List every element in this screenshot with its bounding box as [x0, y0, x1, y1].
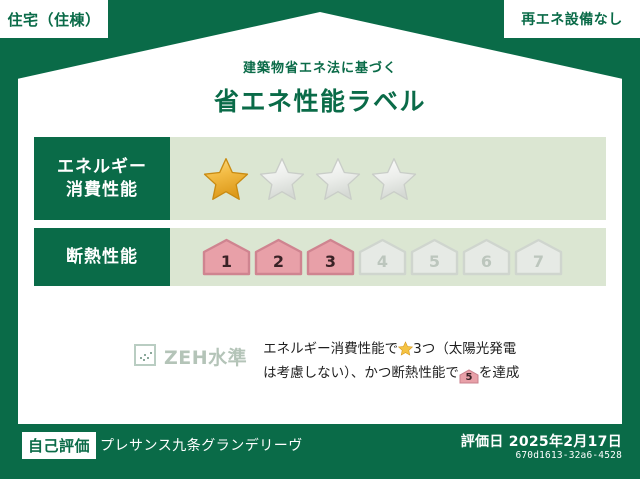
- zeh-description-block: ZEH水準 エネルギー消費性能で 3つ（太陽光発電 は考慮しない）、かつ断熱性能…: [134, 338, 519, 385]
- badge-self-evaluation: 自己評価: [22, 432, 96, 459]
- desc-part1: エネルギー消費性能で: [263, 341, 398, 357]
- row-insulation-performance-label: 断熱性能: [34, 228, 170, 286]
- insulation-scale: 1234567: [170, 238, 606, 276]
- row-energy-performance-label: エネルギー 消費性能: [34, 137, 170, 220]
- insulation-level-value: 4: [377, 252, 388, 271]
- star-empty-icon: [258, 156, 306, 202]
- desc-star-count: 3つ: [413, 341, 435, 357]
- insulation-level-3: 3: [306, 238, 355, 276]
- insulation-level-2: 2: [254, 238, 303, 276]
- desc-line2-part2: を達成: [479, 365, 520, 381]
- insulation-level-value: 7: [533, 252, 544, 271]
- zeh-criteria-description: エネルギー消費性能で 3つ（太陽光発電 は考慮しない）、かつ断熱性能で 5を達成: [263, 338, 519, 385]
- title-subtitle: 建築物省エネ法に基づく: [0, 57, 640, 76]
- star-filled-icon: [202, 156, 250, 202]
- title-block: 建築物省エネ法に基づく 省エネ性能ラベル: [0, 57, 640, 118]
- insulation-level-value: 6: [481, 252, 492, 271]
- evaluation-date: 評価日 2025年2月17日: [461, 431, 622, 451]
- inline-insulation-badge: 5: [459, 369, 479, 384]
- badge-building-type: 住宅（住棟）: [0, 0, 108, 38]
- insulation-level-1: 1: [202, 238, 251, 276]
- ratings-container: エネルギー 消費性能 断熱性能 1234567: [34, 137, 606, 294]
- insulation-level-value: 5: [429, 252, 440, 271]
- inline-insulation-badge-value: 5: [465, 372, 472, 383]
- insulation-level-value: 1: [221, 252, 232, 271]
- insulation-level-5: 5: [410, 238, 459, 276]
- row-energy-performance: エネルギー 消費性能: [34, 137, 606, 220]
- row-insulation-performance: 断熱性能 1234567: [34, 228, 606, 286]
- label-footer: 自己評価 プレサンス九条グランデリーヴ 評価日 2025年2月17日 670d1…: [0, 424, 640, 479]
- insulation-level-7: 7: [514, 238, 563, 276]
- insulation-level-value: 2: [273, 252, 284, 271]
- building-name: プレサンス九条グランデリーヴ: [100, 435, 303, 455]
- energy-performance-label: 住宅（住棟） 再エネ設備なし 建築物省エネ法に基づく 省エネ性能ラベル エネルギ…: [0, 0, 640, 479]
- evaluation-id: 670d1613-32a6-4528: [515, 450, 622, 461]
- page-title: 省エネ性能ラベル: [0, 82, 640, 118]
- inline-star-icon: [398, 341, 413, 356]
- zeh-checkbox-icon: [134, 344, 156, 366]
- insulation-level-value: 3: [325, 252, 336, 271]
- zeh-label: ZEH水準: [164, 343, 247, 370]
- star-rating: [170, 156, 606, 202]
- star-empty-icon: [314, 156, 362, 202]
- insulation-level-4: 4: [358, 238, 407, 276]
- desc-line2-part1: は考慮しない）、かつ断熱性能で: [263, 365, 459, 381]
- row-insulation-label-line1: 断熱性能: [66, 246, 138, 269]
- row-energy-label-line2: 消費性能: [66, 179, 138, 202]
- star-empty-icon: [370, 156, 418, 202]
- desc-part2: （太陽光発電: [435, 341, 516, 357]
- insulation-level-6: 6: [462, 238, 511, 276]
- row-energy-label-line1: エネルギー: [57, 156, 147, 179]
- badge-renewable-equipment: 再エネ設備なし: [504, 0, 640, 38]
